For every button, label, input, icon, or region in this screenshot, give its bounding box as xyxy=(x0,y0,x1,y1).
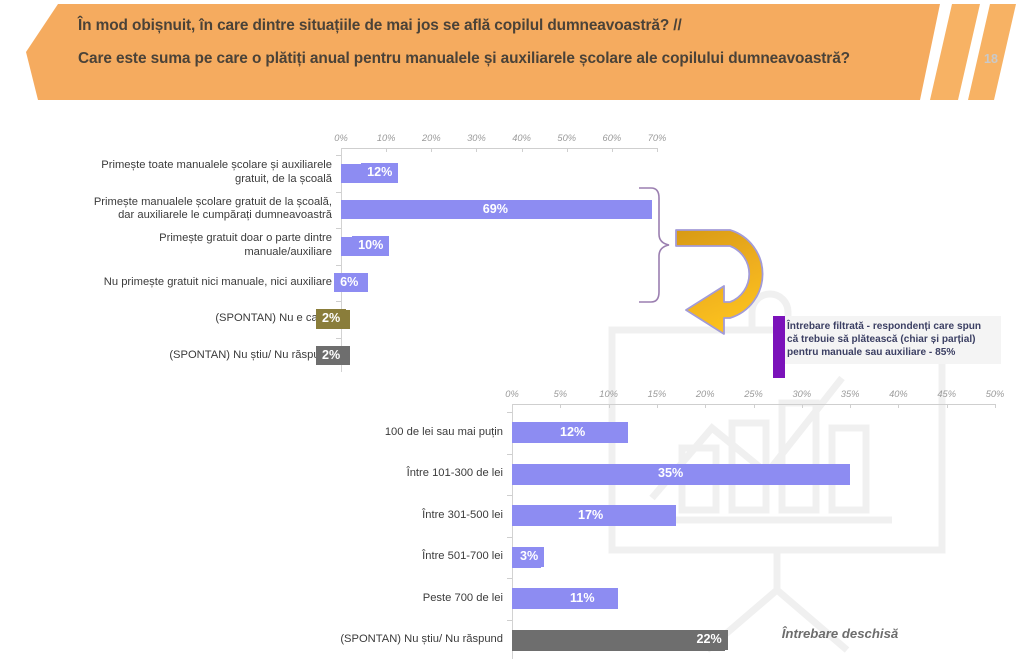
bar-value-label: 3% xyxy=(514,547,544,567)
x-axis-line xyxy=(341,148,657,149)
x-axis-tick-label: 5% xyxy=(554,389,567,399)
x-axis-tick-label: 15% xyxy=(648,389,667,399)
x-axis-line xyxy=(512,404,995,405)
x-axis-tick-label: 20% xyxy=(422,133,441,143)
x-axis-tick-label: 60% xyxy=(603,133,622,143)
bar-value-label: 69% xyxy=(477,200,514,220)
category-label: Între 101-300 de lei xyxy=(83,467,503,481)
page-number: 18 xyxy=(984,52,1014,66)
y-axis-tick xyxy=(336,265,341,266)
y-axis-tick xyxy=(507,454,512,455)
x-axis-tick-label: 50% xyxy=(557,133,576,143)
y-axis-tick xyxy=(507,412,512,413)
x-axis-tick xyxy=(657,148,658,152)
bar-value-label: 22% xyxy=(691,630,728,650)
x-axis-tick-label: 10% xyxy=(599,389,618,399)
x-axis-tick-label: 30% xyxy=(792,389,811,399)
annotation-accent-bar xyxy=(773,316,785,378)
chart-top: 0%10%20%30%40%50%60%70%Primește toate ma… xyxy=(0,128,700,378)
y-axis-tick xyxy=(336,301,341,302)
category-label: (SPONTAN) Nu știu/ Nu răspund xyxy=(22,349,332,363)
category-label: (SPONTAN) Nu e cazul xyxy=(22,312,332,326)
category-label: Între 501-700 lei xyxy=(83,550,503,564)
slide-root: În mod obișnuit, în care dintre situații… xyxy=(0,0,1024,668)
category-label: Primește gratuit doar o parte dintre man… xyxy=(22,232,332,259)
x-axis-tick-label: 20% xyxy=(696,389,715,399)
x-axis-tick-label: 10% xyxy=(377,133,396,143)
header-text-block: În mod obișnuit, în care dintre situații… xyxy=(78,16,918,69)
open-question-note: Întrebare deschisă xyxy=(782,626,899,641)
y-axis-tick xyxy=(336,192,341,193)
category-label: Între 301-500 lei xyxy=(83,509,503,523)
annotation-box: Întrebare filtrată - respondenți care sp… xyxy=(773,316,1001,364)
bar-value-label: 35% xyxy=(652,464,689,484)
bar-value-label: 17% xyxy=(572,506,609,526)
category-label: 100 de lei sau mai puțin xyxy=(83,426,503,440)
x-axis-tick-label: 50% xyxy=(986,389,1005,399)
x-axis-tick-label: 25% xyxy=(744,389,763,399)
y-axis-tick xyxy=(336,155,341,156)
bar-value-label: 2% xyxy=(316,309,346,329)
x-axis-tick-label: 40% xyxy=(512,133,531,143)
x-axis-tick xyxy=(995,404,996,408)
category-label: Primește manualele școlare gratuit de la… xyxy=(22,196,332,223)
y-axis-tick xyxy=(507,537,512,538)
annotation-text: Întrebare filtrată - respondenți care sp… xyxy=(787,320,995,359)
x-axis-tick-label: 30% xyxy=(467,133,486,143)
category-label: Primește toate manualele școlare și auxi… xyxy=(22,159,332,186)
category-label: (SPONTAN) Nu știu/ Nu răspund xyxy=(83,633,503,647)
y-axis-tick xyxy=(507,495,512,496)
x-axis-tick-label: 40% xyxy=(889,389,908,399)
x-axis-tick-label: 70% xyxy=(648,133,667,143)
bar-value-label: 12% xyxy=(361,163,398,183)
bar-value-label: 11% xyxy=(564,589,601,609)
bar-value-label: 10% xyxy=(352,236,389,256)
category-label: Nu primește gratuit nici manuale, nici a… xyxy=(22,276,332,290)
y-axis-tick xyxy=(336,228,341,229)
y-axis-tick xyxy=(507,578,512,579)
header-banner: În mod obișnuit, în care dintre situații… xyxy=(0,0,1024,112)
y-axis-tick xyxy=(507,620,512,621)
x-axis-tick-label: 0% xyxy=(334,133,347,143)
category-label: Peste 700 de lei xyxy=(83,592,503,606)
y-axis-tick xyxy=(336,338,341,339)
x-axis-tick-label: 45% xyxy=(937,389,956,399)
bar-value-label: 6% xyxy=(334,273,364,293)
curved-arrow-down-left-icon xyxy=(668,222,780,340)
bar-value-label: 2% xyxy=(316,346,346,366)
header-question-1: În mod obișnuit, în care dintre situații… xyxy=(78,16,918,36)
x-axis-tick-label: 35% xyxy=(841,389,860,399)
header-question-2: Care este suma pe care o plătiți anual p… xyxy=(78,49,918,69)
bar-value-label: 12% xyxy=(554,423,591,443)
x-axis-tick-label: 0% xyxy=(505,389,518,399)
